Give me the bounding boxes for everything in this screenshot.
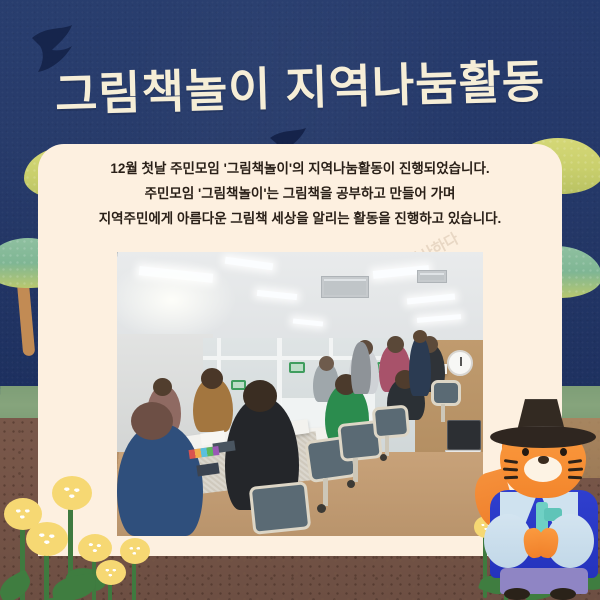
tiger-eye-left <box>522 448 529 456</box>
photo-chair-back <box>431 380 461 406</box>
body-line-1: 12월 첫날 주민모임 '그림책놀이'의 지역나눔활동이 진행되었습니다. <box>48 156 552 181</box>
flower-cluster-left <box>0 468 230 600</box>
photo-person-standing <box>351 342 371 394</box>
photo-person-head <box>387 336 404 353</box>
photo-ceiling-vent <box>321 276 369 298</box>
photo-person-head <box>131 402 173 440</box>
flower-leaf <box>51 573 98 600</box>
photo-chair-leg <box>353 458 358 482</box>
flower-bloom <box>78 534 112 562</box>
tiger-shoe <box>550 588 576 600</box>
wall-clock-icon <box>447 350 473 376</box>
tiger-eye-right <box>560 448 567 456</box>
photo-ceiling-vent <box>417 270 447 283</box>
photo-chair-leg <box>323 478 328 506</box>
photo-person-head <box>413 330 427 343</box>
tiger-hat-brim <box>490 426 596 448</box>
photo-chair-leg <box>385 436 389 456</box>
tiger-shoe <box>504 588 530 600</box>
tree-trunk <box>17 280 36 357</box>
photo-chair-wheel <box>347 480 355 488</box>
photo-monitor <box>447 420 481 450</box>
photo-chair-leg <box>441 404 445 422</box>
photo-chair-back <box>372 404 411 439</box>
poster-card: 그림책놀이 지역나눔활동 12월 첫날 주민모임 '그림책놀이'의 지역나눔활동… <box>0 0 600 600</box>
photo-chair-wheel <box>317 504 326 513</box>
flower-bloom <box>52 476 92 510</box>
flower-bloom <box>96 560 126 585</box>
photo-person-head <box>201 368 223 389</box>
photo-person-head <box>319 356 334 371</box>
photo-person-head <box>153 378 172 396</box>
tiger-stripe <box>568 476 582 479</box>
photo-chair-back <box>249 481 312 535</box>
photo-chair-wheel <box>380 454 387 461</box>
flower-stem <box>132 560 136 600</box>
flower-bloom <box>26 522 68 556</box>
flower-leaf <box>0 569 35 600</box>
tiger-stripe <box>504 476 518 479</box>
photo-person-standing <box>409 336 431 396</box>
photo-person-head <box>243 380 277 412</box>
body-line-2: 주민모임 '그림책놀이'는 그림책을 공부하고 만들어 가며 <box>48 181 552 206</box>
emergency-exit-sign-icon <box>289 362 305 373</box>
tiger-nose <box>538 456 549 464</box>
flower-bloom <box>120 538 150 564</box>
tiger-mascot-hanbok-icon <box>478 398 600 600</box>
